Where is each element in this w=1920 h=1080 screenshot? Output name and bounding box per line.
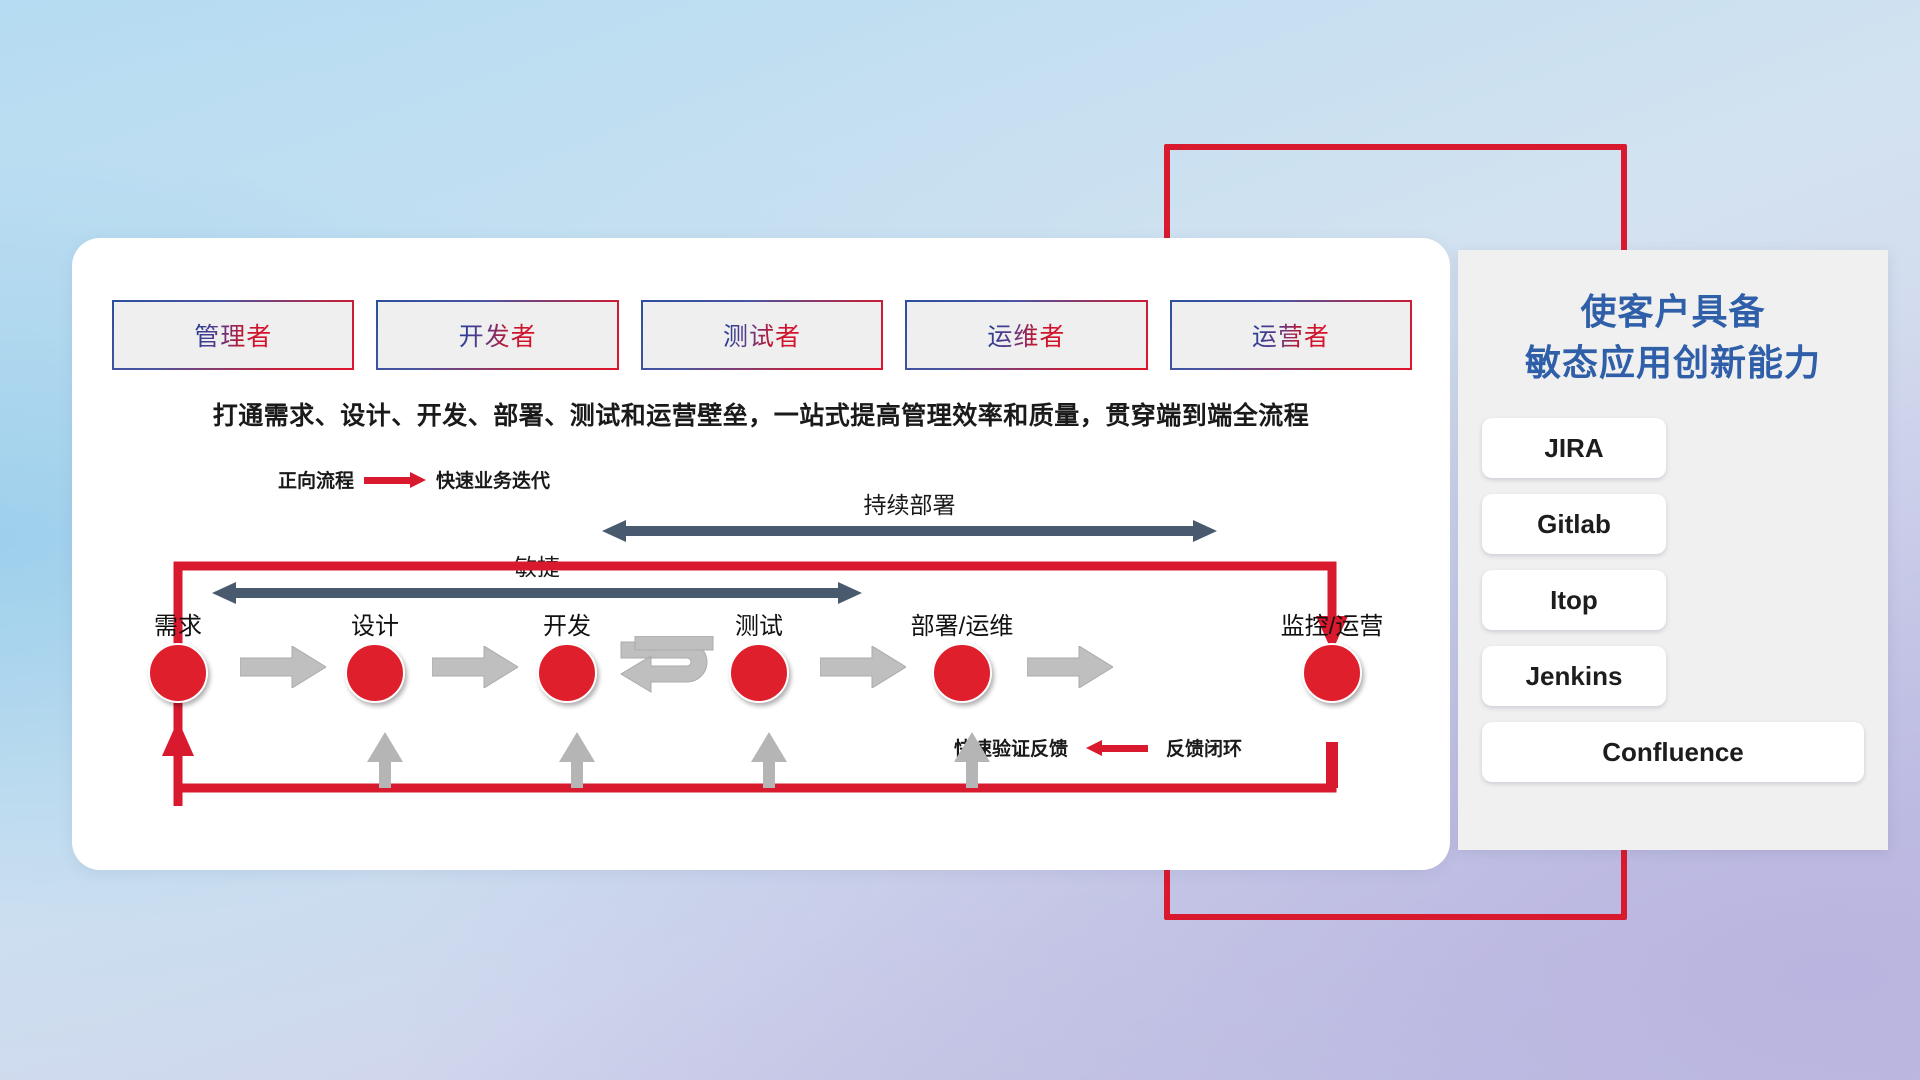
role-label: 管理者: [194, 317, 272, 353]
tool-chip-label: Gitlab: [1537, 509, 1611, 540]
tool-chip-itop[interactable]: Itop: [1482, 570, 1666, 630]
role-box-manager[interactable]: 管理者: [112, 300, 354, 370]
stage-label: 需求: [118, 606, 238, 641]
value-proposition-panel: 使客户具备 敏态应用创新能力 JIRA Gitlab Itop Jenkins …: [1458, 250, 1888, 850]
stage-label: 部署/运维: [882, 606, 1042, 641]
role-label: 运营者: [1252, 317, 1330, 353]
role-box-row: 管理者 开发者 测试者 运维者 运营者: [112, 300, 1412, 370]
stage-design[interactable]: 设计: [315, 606, 435, 703]
stage-monitoring-operations[interactable]: 监控/运营: [1252, 606, 1412, 703]
stage-testing[interactable]: 测试: [699, 606, 819, 703]
role-box-ops[interactable]: 运维者: [905, 300, 1147, 370]
legend-forward-flow: 正向流程 快速业务迭代: [278, 466, 550, 493]
stage-deployment-ops[interactable]: 部署/运维: [882, 606, 1042, 703]
panel-title: 使客户具备 敏态应用创新能力: [1482, 286, 1864, 388]
tool-chip-gitlab[interactable]: Gitlab: [1482, 494, 1666, 554]
legend-forward-left-label: 正向流程: [278, 466, 354, 493]
stage-dot[interactable]: [1302, 643, 1362, 703]
arrow-right-red-icon: [364, 474, 426, 486]
slide-canvas: 管理者 开发者 测试者 运维者 运营者 打通需求、设计、开发、部署、测试和运营壁…: [0, 0, 1920, 1080]
stage-label: 测试: [699, 606, 819, 641]
tool-chip-label: Jenkins: [1526, 661, 1623, 692]
stage-requirement[interactable]: 需求: [118, 606, 238, 703]
stage-label: 设计: [315, 606, 435, 641]
stage-label: 监控/运营: [1252, 606, 1412, 641]
stage-development[interactable]: 开发: [507, 606, 627, 703]
main-card: 管理者 开发者 测试者 运维者 运营者 打通需求、设计、开发、部署、测试和运营壁…: [72, 238, 1450, 870]
double-headed-arrow-icon: [602, 520, 1217, 542]
tool-chip-label: Confluence: [1602, 737, 1744, 768]
role-box-developer[interactable]: 开发者: [376, 300, 618, 370]
stage-label: 开发: [507, 606, 627, 641]
role-box-operations[interactable]: 运营者: [1170, 300, 1412, 370]
tool-chip-jenkins[interactable]: Jenkins: [1482, 646, 1666, 706]
tool-chip-jira[interactable]: JIRA: [1482, 418, 1666, 478]
card-subtitle: 打通需求、设计、开发、部署、测试和运营壁垒，一站式提高管理效率和质量，贯穿端到端…: [72, 396, 1450, 432]
stage-dot[interactable]: [537, 643, 597, 703]
span-arrow-continuous-deployment: 持续部署: [602, 520, 1217, 542]
arrow-right-gray-icon-1: [240, 646, 326, 688]
tool-chip-label: JIRA: [1544, 433, 1603, 464]
tool-chip-label: Itop: [1550, 585, 1598, 616]
tool-chip-grid: JIRA Gitlab Itop Jenkins Confluence: [1482, 418, 1864, 782]
panel-title-line-1: 使客户具备: [1482, 286, 1864, 337]
stage-dot[interactable]: [148, 643, 208, 703]
stage-dot[interactable]: [932, 643, 992, 703]
legend-forward-right-label: 快速业务迭代: [436, 466, 550, 493]
role-label: 运维者: [987, 317, 1065, 353]
tool-chip-confluence[interactable]: Confluence: [1482, 722, 1864, 782]
role-label: 测试者: [723, 317, 801, 353]
role-label: 开发者: [459, 317, 537, 353]
role-box-tester[interactable]: 测试者: [641, 300, 883, 370]
span-arrow-label: 持续部署: [602, 486, 1217, 520]
panel-title-line-2: 敏态应用创新能力: [1482, 337, 1864, 388]
arrow-right-gray-icon-2: [432, 646, 518, 688]
stage-dot[interactable]: [345, 643, 405, 703]
stage-dot[interactable]: [729, 643, 789, 703]
